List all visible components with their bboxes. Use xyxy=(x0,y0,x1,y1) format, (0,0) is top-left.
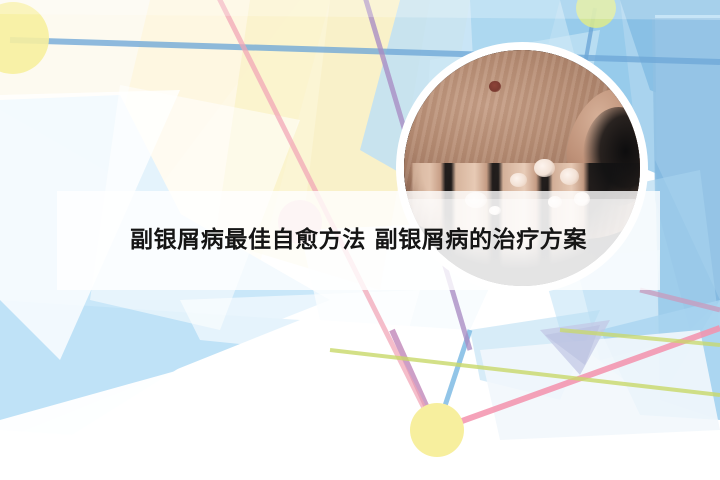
page-title: 副银屑病最佳自愈方法 副银屑病的治疗方案 xyxy=(130,229,587,252)
headline-layer: 副银屑病最佳自愈方法 副银屑病的治疗方案 xyxy=(0,0,720,480)
headline-panel: 副银屑病最佳自愈方法 副银屑病的治疗方案 xyxy=(57,191,660,290)
poster-canvas: 副银屑病最佳自愈方法 副银屑病的治疗方案 xyxy=(0,0,720,480)
